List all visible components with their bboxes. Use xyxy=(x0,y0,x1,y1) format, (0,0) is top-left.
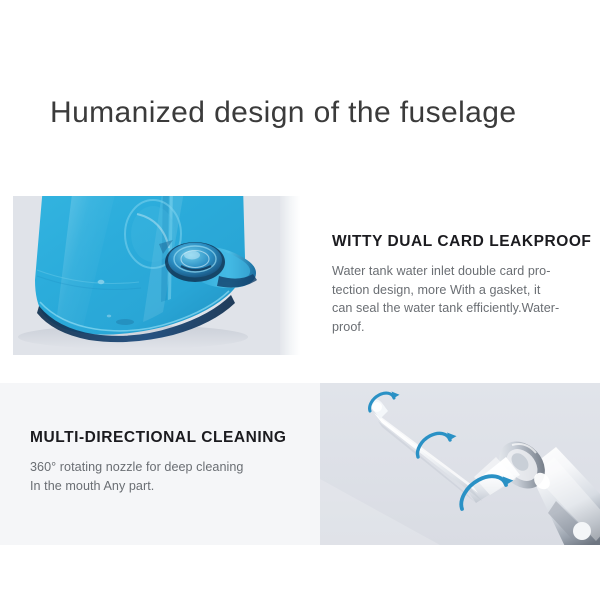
body-line: can seal the water tank efficiently.Wate… xyxy=(332,299,590,318)
feature-block-leakproof: WITTY DUAL CARD LEAKPROOF Water tank wat… xyxy=(0,196,600,358)
feature-block-multidirectional: MULTI-DIRECTIONAL CLEANING 360° rotating… xyxy=(0,383,600,545)
rotating-nozzle-icon xyxy=(320,383,600,545)
feature-image-nozzle xyxy=(320,383,600,545)
feature-text-multidirectional: MULTI-DIRECTIONAL CLEANING 360° rotating… xyxy=(30,429,305,495)
feature-body: Water tank water inlet double card pro- … xyxy=(332,262,590,337)
body-line: Water tank water inlet double card pro- xyxy=(332,262,590,281)
body-line: tection design, more With a gasket, it xyxy=(332,281,590,300)
body-line: 360° rotating nozzle for deep cleaning xyxy=(30,458,305,477)
feature-image-fade-divider xyxy=(280,196,300,355)
feature-heading: WITTY DUAL CARD LEAKPROOF xyxy=(332,233,590,251)
feature-image-water-tank xyxy=(13,196,280,355)
feature-heading: MULTI-DIRECTIONAL CLEANING xyxy=(30,429,305,447)
water-tank-illustration xyxy=(13,196,280,355)
body-line: In the mouth Any part. xyxy=(30,477,305,496)
feature-text-leakproof: WITTY DUAL CARD LEAKPROOF Water tank wat… xyxy=(332,233,590,337)
product-feature-page: Humanized design of the fuselage xyxy=(0,0,600,600)
feature-body: 360° rotating nozzle for deep cleaning I… xyxy=(30,458,305,495)
water-tank-icon xyxy=(13,196,280,355)
body-line: proof. xyxy=(332,318,590,337)
page-title: Humanized design of the fuselage xyxy=(50,96,516,130)
